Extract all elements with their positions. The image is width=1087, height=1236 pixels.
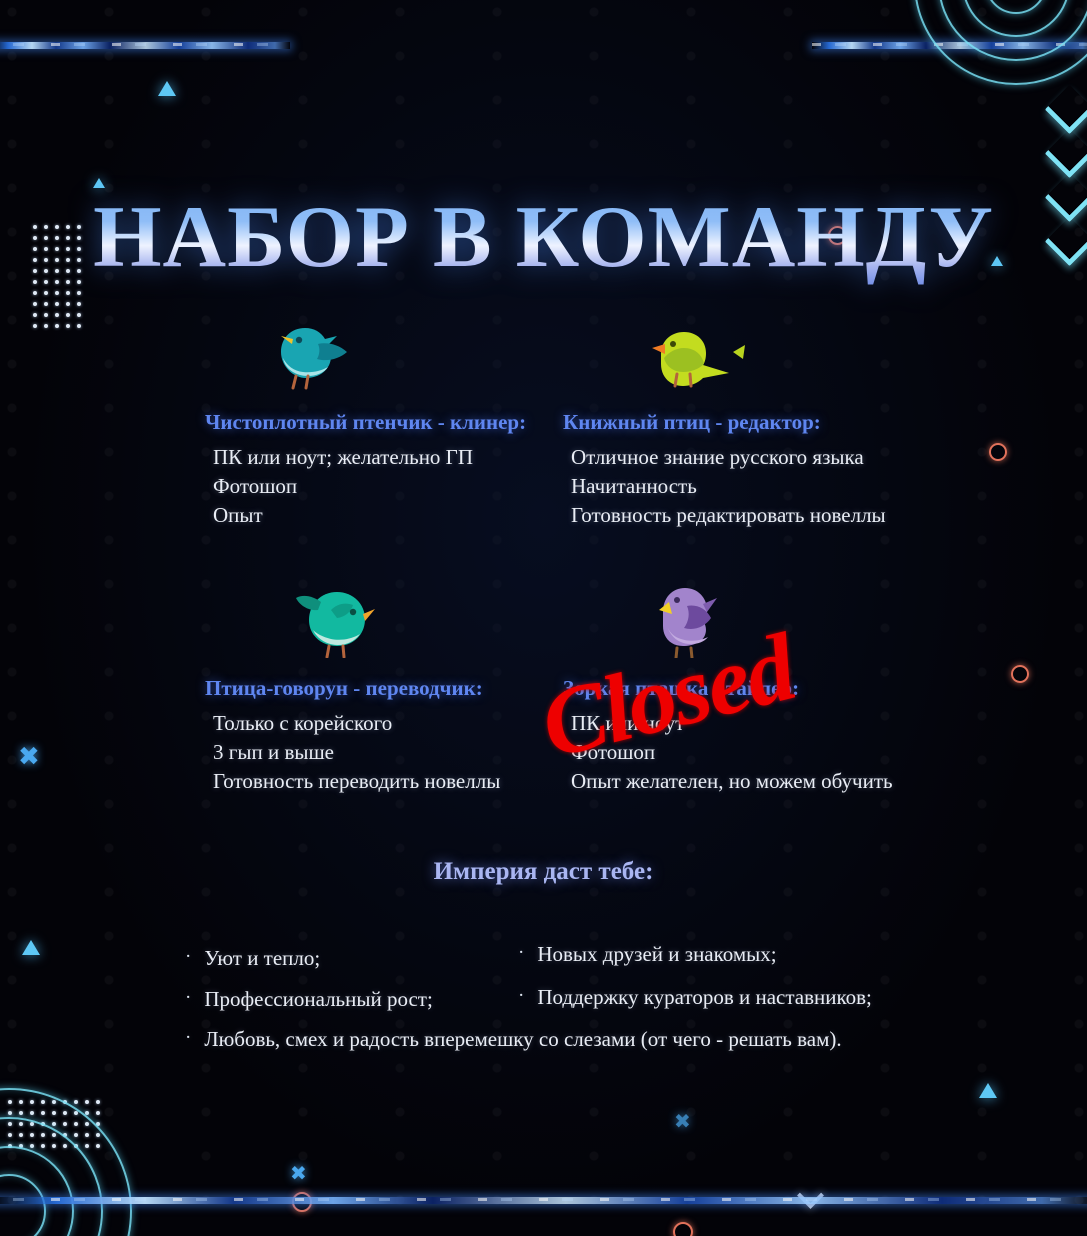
role-title: Книжный птиц - редактор: <box>563 410 943 435</box>
chevron-down-marker-bottom <box>797 1182 824 1209</box>
role-requirement: Начитанность <box>563 472 943 501</box>
perk-item: · Уют и тепло; <box>185 946 320 971</box>
bird-teal-icon <box>293 578 383 663</box>
perk-label: Профессиональный рост; <box>204 987 433 1012</box>
role-requirement: Готовность переводить новеллы <box>205 767 565 796</box>
concentric-rings-bottom-left <box>8 1210 10 1212</box>
bullet-marker: · <box>518 986 524 1005</box>
perk-item: · Поддержку кураторов и наставников; <box>518 985 872 1010</box>
bird-green-icon <box>645 318 745 395</box>
top-glow-line-right <box>812 42 1087 49</box>
role-requirements-list: Отличное знание русского языка Начитанно… <box>563 443 943 530</box>
role-requirement: ПК или ноут; желательно ГП <box>205 443 565 472</box>
role-card-cleaner[interactable]: Чистоплотный птенчик - клинер: ПК или но… <box>205 312 565 530</box>
role-title: Птица-говорун - переводчик: <box>205 676 565 701</box>
sparkle-x-bottom-center: ✖ <box>674 1111 691 1131</box>
triangle-marker-top-left <box>158 81 176 96</box>
role-requirement: Опыт <box>205 501 565 530</box>
role-requirement: Готовность редактировать новеллы <box>563 501 943 530</box>
bullet-marker: · <box>185 1028 191 1047</box>
circle-marker-bottom-center <box>673 1222 693 1236</box>
perk-label: Любовь, смех и радость вперемешку со сле… <box>204 1027 841 1052</box>
role-card-editor[interactable]: Книжный птиц - редактор: Отличное знание… <box>563 312 943 530</box>
page-title: НАБОР В КОМАНДУ <box>0 187 1087 288</box>
perk-label: Поддержку кураторов и наставников; <box>537 985 872 1010</box>
role-title: Чистоплотный птенчик - клинер: <box>205 410 565 435</box>
roles-row-1: Чистоплотный птенчик - клинер: ПК или но… <box>0 312 1087 530</box>
role-requirements-list: ПК или ноут; желательно ГП Фотошоп Опыт <box>205 443 565 530</box>
role-requirement: Отличное знание русского языка <box>563 443 943 472</box>
dot-grid-bottom-left <box>8 1100 108 1160</box>
role-requirement: Опыт желателен, но можем обучить <box>563 767 943 796</box>
poster-canvas: ✖ ✖ ✖ НАБОР В КОМАНДУ <box>0 0 1087 1236</box>
bullet-marker: · <box>185 947 191 966</box>
perks-section: Империя даст тебе: · Уют и тепло; · Новы… <box>0 858 1087 928</box>
role-requirement: Фотошоп <box>205 472 565 501</box>
role-requirements-list: Только с корейского 3 гып и выше Готовно… <box>205 709 565 796</box>
perk-item: · Профессиональный рост; <box>185 987 433 1012</box>
bottom-glow-line <box>0 1197 1087 1204</box>
perk-label: Уют и тепло; <box>204 946 320 971</box>
bird-cyan-icon <box>263 314 355 395</box>
circle-marker-bottom-left <box>292 1192 312 1212</box>
perk-item: · Любовь, смех и радость вперемешку со с… <box>185 1027 842 1052</box>
triangle-marker-left-lower <box>22 940 40 955</box>
bullet-marker: · <box>518 943 524 962</box>
perk-item: · Новых друзей и знакомых; <box>518 942 777 967</box>
sparkle-x-bottom-left: ✖ <box>290 1163 307 1183</box>
role-card-translator[interactable]: Птица-говорун - переводчик: Только с кор… <box>205 578 565 796</box>
triangle-marker-right-lower <box>979 1083 997 1098</box>
bullet-marker: · <box>185 988 191 1007</box>
perks-heading: Империя даст тебе: <box>0 858 1087 886</box>
perk-label: Новых друзей и знакомых; <box>537 942 776 967</box>
role-requirement: Только с корейского <box>205 709 565 738</box>
top-glow-line-left <box>0 42 290 49</box>
role-requirement: 3 гып и выше <box>205 738 565 767</box>
